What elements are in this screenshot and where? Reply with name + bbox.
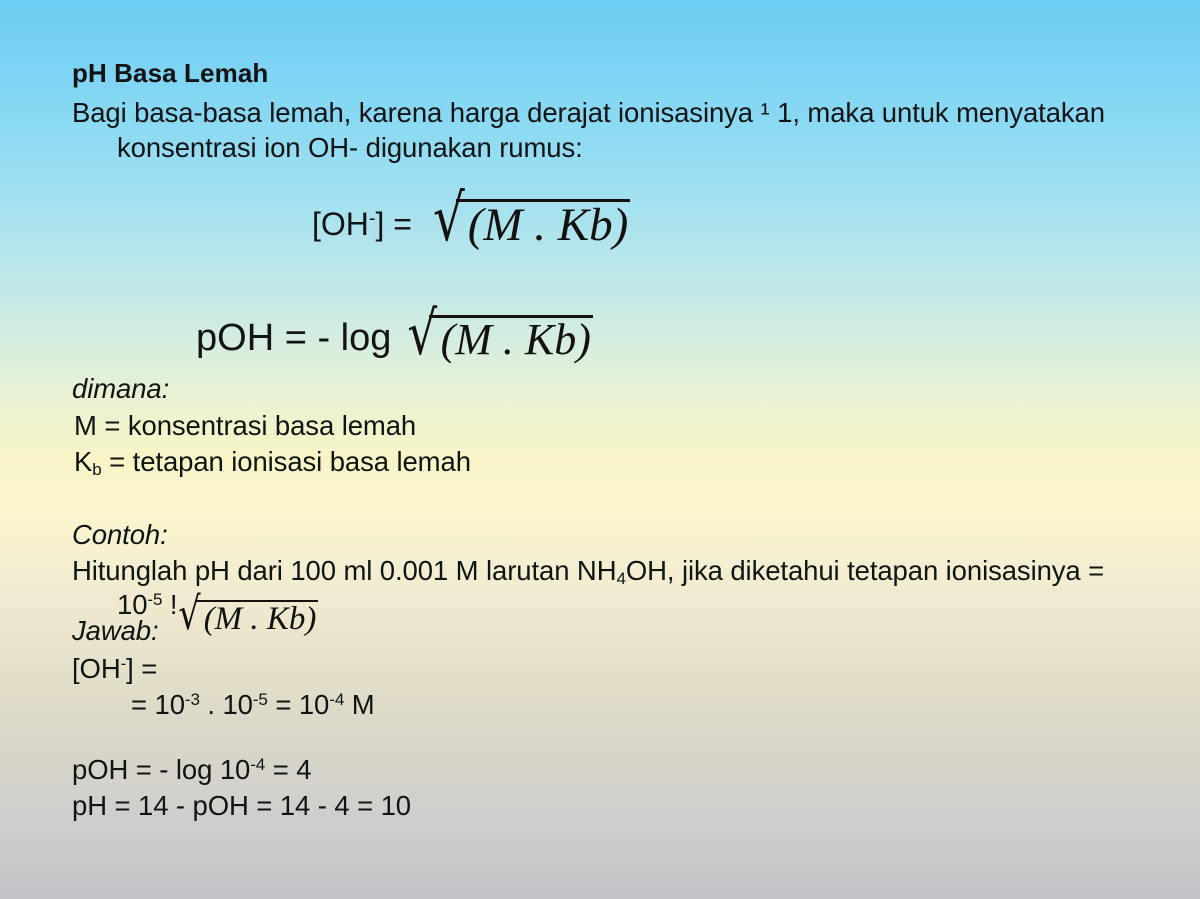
formula-poh: pOH = - log √(M . Kb)	[196, 313, 593, 365]
slide-canvas: pH Basa Lemah Bagi basa-basa lemah, kare…	[0, 0, 1200, 899]
definitions-heading: dimana:	[72, 375, 169, 403]
poh-exponent: -4	[250, 755, 265, 774]
calc-unit: M	[344, 689, 374, 720]
page-title: pH Basa Lemah	[72, 60, 268, 86]
intro-line-2: konsentrasi ion OH- digunakan rumus:	[117, 134, 583, 162]
oh-lhs-end: ] =	[126, 653, 157, 684]
radicand-1: (M . Kb)	[465, 198, 631, 252]
definition-item-m: M = konsentrasi basa lemah	[74, 412, 416, 440]
ph-result-line: pH = 14 - pOH = 14 - 4 = 10	[72, 792, 411, 820]
example-question-part1: Hitunglah pH dari 100 ml 0.001 M larutan…	[72, 555, 616, 586]
formula1-charge-superscript: -	[369, 208, 376, 230]
formula-oh-concentration: [OH-] = √(M . Kb)	[312, 196, 630, 252]
calc-exponent-1: -3	[185, 690, 200, 709]
poh-prefix: pOH = - log 10	[72, 754, 250, 785]
kb-subscript: b	[92, 460, 101, 479]
nh4-subscript: 4	[616, 569, 625, 588]
poh-result-line: pOH = - log 10-4 = 4	[72, 756, 311, 784]
radical-sign-icon: √	[433, 196, 465, 242]
radical-expression-2: √(M . Kb)	[399, 313, 593, 365]
vinculum-bar-2	[429, 315, 593, 318]
calc-equals: = 10	[268, 689, 329, 720]
formula1-lhs-end: ] =	[376, 206, 412, 242]
oh-concentration-line: [OH-] =	[72, 655, 157, 683]
radical-expression-3: √(M . Kb)	[172, 598, 318, 638]
radical-sign-icon: √	[408, 313, 438, 356]
given-exponent: -5	[147, 590, 162, 609]
formula2-lhs: pOH = - log	[196, 317, 391, 365]
radical-sign-icon: √	[178, 598, 200, 630]
calc-middle: . 10	[200, 689, 253, 720]
kb-description: = tetapan ionisasi basa lemah	[102, 446, 471, 477]
answer-label: Jawab:	[72, 617, 159, 645]
definition-item-kb: Kb = tetapan ionisasi basa lemah	[74, 448, 471, 476]
example-heading: Contoh:	[72, 521, 168, 549]
formula1-lhs-text: [OH	[312, 206, 369, 242]
intro-line-1: Bagi basa-basa lemah, karena harga deraj…	[72, 99, 1105, 127]
radical-expression-1: √(M . Kb)	[424, 196, 630, 252]
example-question: Hitunglah pH dari 100 ml 0.001 M larutan…	[72, 557, 1104, 585]
calc-exponent-3: -4	[329, 690, 344, 709]
radical-expression-3-wrapper: √(M . Kb)	[172, 598, 318, 638]
radicand-2: (M . Kb)	[438, 314, 593, 365]
oh-lhs-text: [OH	[72, 653, 121, 684]
formula1-lhs: [OH-] =	[312, 206, 412, 252]
kb-symbol: K	[74, 446, 92, 477]
vinculum-bar-3	[195, 600, 318, 602]
calc-exponent-2: -5	[253, 690, 268, 709]
radicand-3: (M . Kb)	[201, 601, 319, 638]
poh-suffix: = 4	[265, 754, 311, 785]
example-question-part2: OH, jika diketahui tetapan ionisasinya =	[626, 555, 1104, 586]
vinculum-bar-1	[456, 199, 630, 202]
calc-prefix: = 10	[131, 689, 185, 720]
calculation-line: = 10-3 . 10-5 = 10-4 M	[131, 691, 375, 719]
